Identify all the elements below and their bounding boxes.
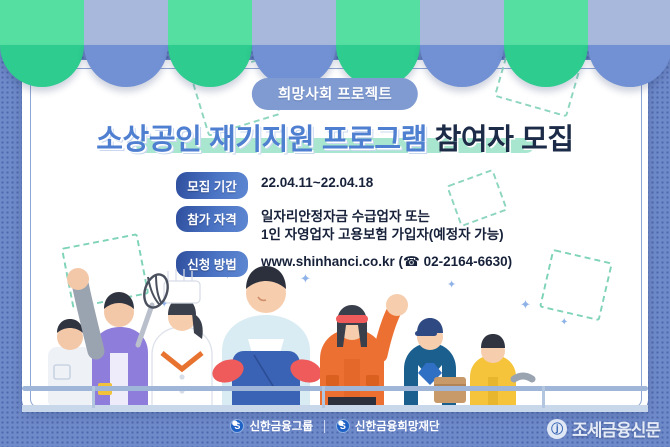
project-badge: 희망사회 프로젝트 bbox=[252, 78, 418, 110]
shinhan-logo-icon: S bbox=[230, 419, 244, 433]
awning-panel bbox=[0, 0, 84, 45]
awning-panel bbox=[168, 0, 252, 45]
awning-panel bbox=[252, 0, 336, 45]
info-row: 모집 기간 22.04.11~22.04.18 bbox=[176, 172, 512, 199]
press-logo-icon: ⓙ bbox=[547, 419, 567, 439]
info-line: 1인 자영업자 고용보험 가입자(예정자 가능) bbox=[261, 226, 504, 244]
info-line: 일자리안정자금 수급업자 또는 bbox=[261, 208, 504, 226]
footer-divider bbox=[324, 420, 325, 433]
illustration-business-owners bbox=[22, 255, 648, 412]
logo-label: 신한금융그룹 bbox=[249, 418, 312, 434]
info-row: 참가 자격 일자리안정자금 수급업자 또는 1인 자영업자 고용보험 가입자(예… bbox=[176, 206, 512, 244]
info-line: 22.04.11~22.04.18 bbox=[261, 174, 373, 192]
info-value-period: 22.04.11~22.04.18 bbox=[261, 172, 373, 192]
info-tag-period: 모집 기간 bbox=[176, 172, 248, 199]
awning-panel bbox=[84, 0, 168, 45]
person-yellow-shirt bbox=[470, 334, 532, 411]
logo-shinhan-group: S 신한금융그룹 bbox=[230, 418, 312, 434]
person-orange-shirt bbox=[320, 294, 408, 411]
info-tag-eligibility: 참가 자격 bbox=[176, 206, 248, 233]
press-watermark: ⓙ 조세금융신문 bbox=[547, 416, 660, 441]
press-watermark-label: 조세금융신문 bbox=[572, 416, 660, 441]
headline-secondary: 참여자 모집 bbox=[435, 124, 574, 156]
logo-label: 신한금융희망재단 bbox=[355, 418, 440, 434]
poster: 희망사회 프로젝트 소상공인 재기지원 프로그램 참여자 모집 모집 기간 22… bbox=[0, 0, 670, 447]
awning-panel bbox=[504, 0, 588, 45]
awning-panel bbox=[336, 0, 420, 45]
shinhan-logo-icon: S bbox=[336, 419, 350, 433]
person-blue-cap bbox=[404, 318, 466, 411]
logo-shinhan-foundation: S 신한금융희망재단 bbox=[336, 418, 440, 434]
awning-panel bbox=[588, 0, 670, 45]
headline-primary: 소상공인 재기지원 프로그램 bbox=[96, 124, 427, 156]
info-value-eligibility: 일자리안정자금 수급업자 또는 1인 자영업자 고용보험 가입자(예정자 가능) bbox=[261, 206, 504, 244]
awning-stripes bbox=[0, 0, 670, 75]
page-title: 소상공인 재기지원 프로그램 참여자 모집 bbox=[0, 116, 670, 158]
people-illustration-svg bbox=[22, 255, 648, 412]
awning-panel bbox=[420, 0, 504, 45]
